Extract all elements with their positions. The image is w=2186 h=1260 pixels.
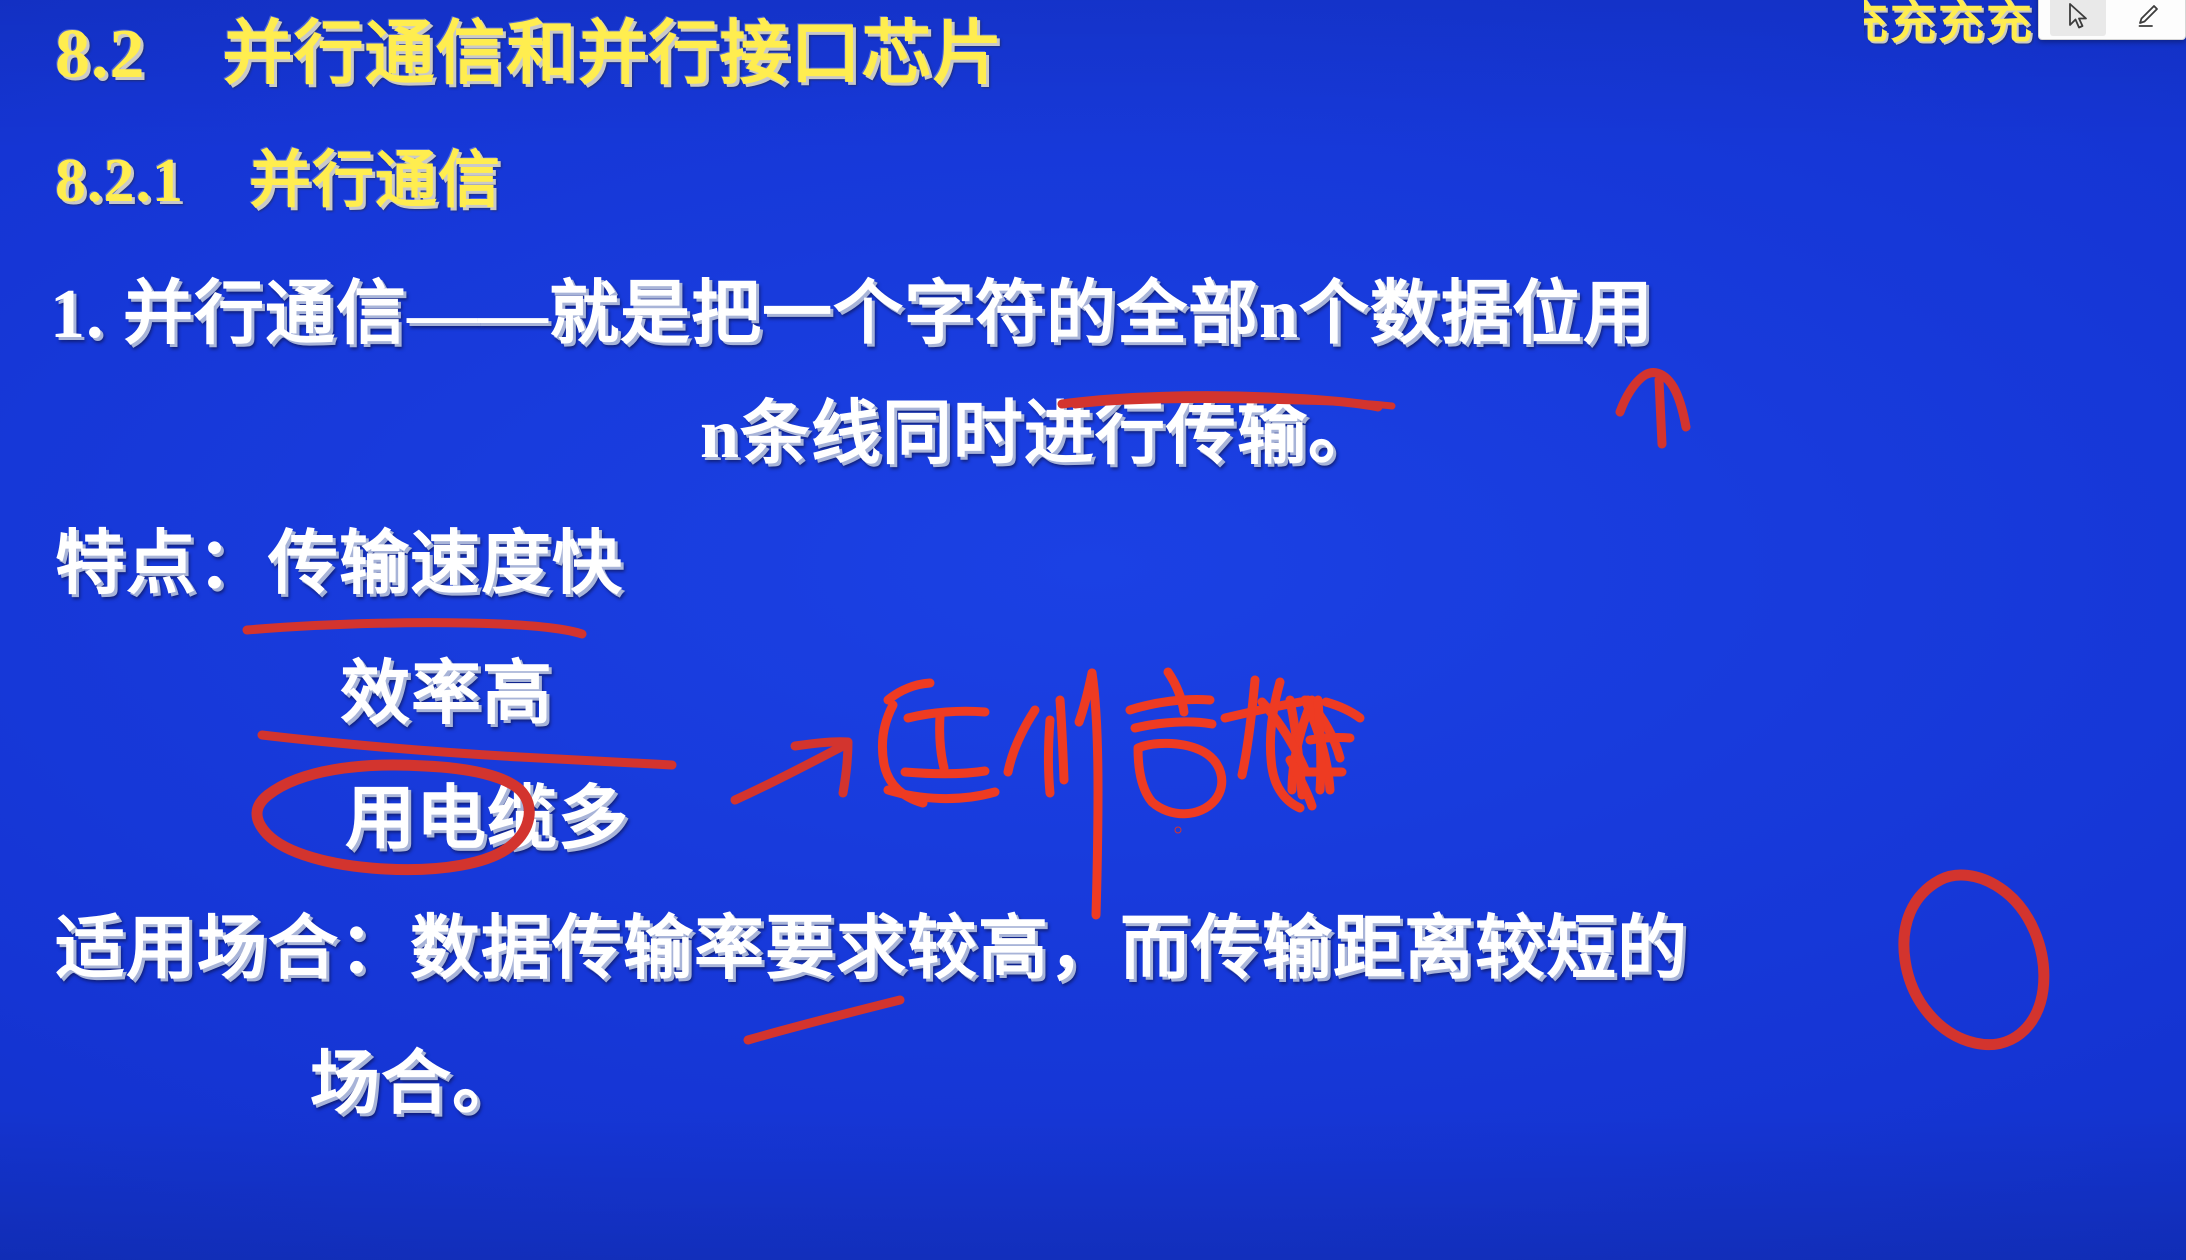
presentation-screen: 8.2 并行通信和并行接口芯片 8.2.1 并行通信 1. 并行通信——就是把一… [0, 0, 2186, 1260]
subsection-title: 并行通信 [249, 147, 501, 215]
section-heading: 8.2 并行通信和并行接口芯片 [55, 20, 1004, 90]
select-tool-button[interactable] [2050, 0, 2106, 36]
body-line-6: 适用场合：数据传输率要求较高，而传输距离较短的 [55, 915, 1688, 985]
pen-tool-button[interactable] [2119, 0, 2175, 36]
section-title: 并行通信和并行接口芯片 [223, 16, 1004, 93]
body-line-5: 用电缆多 [345, 785, 629, 855]
body-line-4: 效率高 [340, 660, 553, 730]
subsection-number: 8.2.1 [55, 147, 184, 215]
pen-icon [2133, 1, 2161, 31]
body-line-1: 1. 并行通信——就是把一个字符的全部n个数据位用 [50, 280, 1654, 350]
annotation-toolbar[interactable] [2038, 0, 2186, 40]
body-line-7: 场合。 [310, 1050, 523, 1120]
body-line-2: n条线同时进行传输。 [700, 400, 1379, 470]
subsection-heading: 8.2.1 并行通信 [55, 150, 501, 212]
clipped-heading-behind-toolbar: 充充充充 [1864, 0, 2034, 52]
cursor-arrow-icon [2065, 1, 2091, 31]
body-line-3: 特点：传输速度快 [55, 530, 623, 600]
section-number: 8.2 [55, 16, 146, 93]
